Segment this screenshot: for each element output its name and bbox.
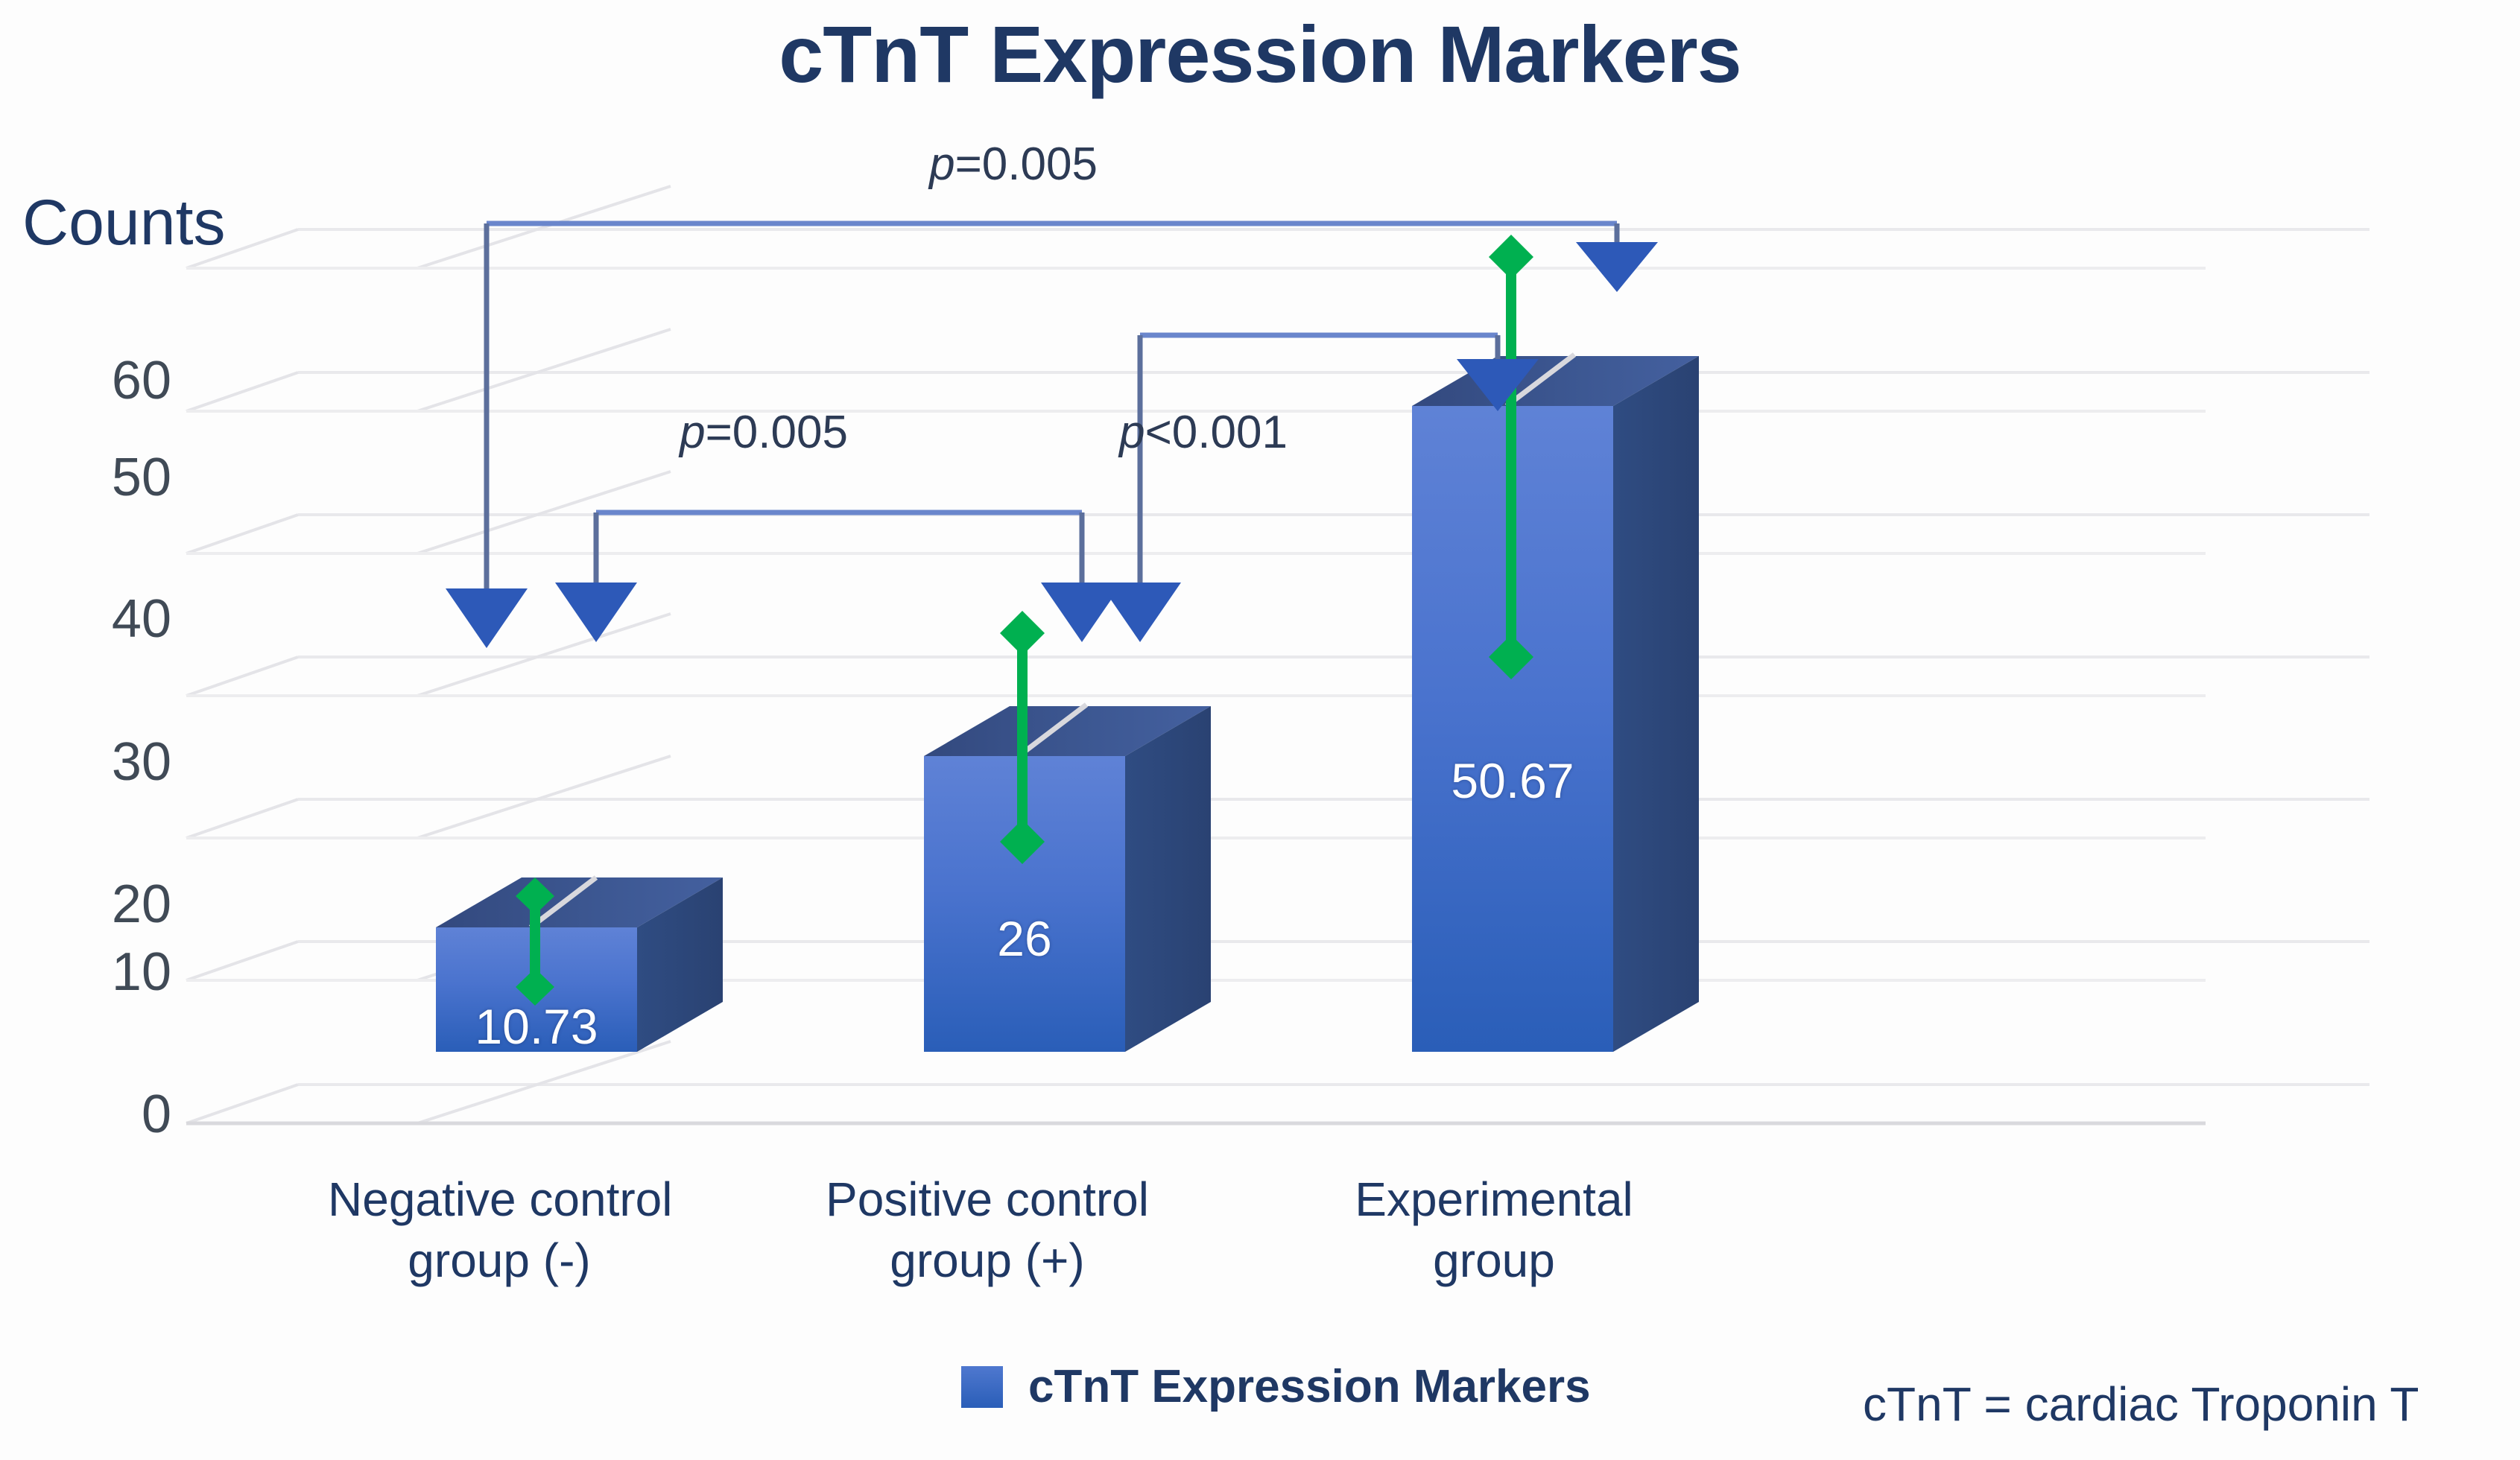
bar-experimental[interactable] (1412, 355, 1699, 1052)
bar-value-label-negative: 10.73 (395, 998, 678, 1055)
pvalue-value: =0.005 (706, 407, 848, 458)
y-tick-10: 10 (52, 942, 171, 1003)
y-tick-30: 30 (52, 731, 171, 793)
chart-footnote: cTnT = cardiac Troponin T (1863, 1377, 2419, 1432)
bar-positive-control[interactable] (924, 705, 1211, 1052)
bracket-arrowhead (555, 583, 637, 642)
significance-bracket-low (596, 512, 1082, 588)
bar-value-label-experimental: 50.67 (1371, 752, 1654, 809)
y-tick-0: 0 (52, 1084, 171, 1145)
pvalue-value: <0.001 (1145, 407, 1288, 458)
x-category-experimental: Experimental group (1323, 1169, 1665, 1292)
pvalue-value: =0.005 (955, 139, 1098, 190)
y-tick-60: 60 (52, 350, 171, 411)
x-category-negative-control: Negative control group (-) (328, 1169, 671, 1292)
category-line-2: group (-) (328, 1231, 671, 1292)
category-line-2: group (1323, 1231, 1665, 1292)
bar-side-face (1125, 706, 1211, 1052)
chart-canvas: cTnT Expression Markers Counts (0, 0, 2520, 1460)
pvalue-label-right: p<0.001 (1047, 406, 1360, 459)
y-tick-20: 20 (52, 874, 171, 935)
bar-side-face (1613, 356, 1699, 1052)
pvalue-p-symbol: p (680, 407, 705, 458)
bracket-arrowhead (446, 588, 528, 648)
category-line-2: group (+) (816, 1231, 1159, 1292)
category-line-1: Negative control (328, 1169, 671, 1231)
bracket-arrowhead (1041, 583, 1123, 642)
pvalue-label-left: p=0.005 (607, 406, 920, 459)
legend-label: cTnT Expression Markers (1028, 1360, 1591, 1413)
pvalue-label-top: p=0.005 (857, 138, 1170, 191)
pvalue-p-symbol: p (929, 139, 955, 190)
x-category-positive-control: Positive control group (+) (816, 1169, 1159, 1292)
category-line-1: Positive control (816, 1169, 1159, 1231)
bar-value-label-positive: 26 (883, 910, 1166, 967)
y-tick-50: 50 (52, 447, 171, 508)
legend-swatch-icon (961, 1366, 1003, 1408)
category-line-1: Experimental (1323, 1169, 1665, 1231)
y-tick-40: 40 (52, 588, 171, 650)
pvalue-p-symbol: p (1119, 407, 1145, 458)
chart-legend[interactable]: cTnT Expression Markers (961, 1360, 1591, 1413)
